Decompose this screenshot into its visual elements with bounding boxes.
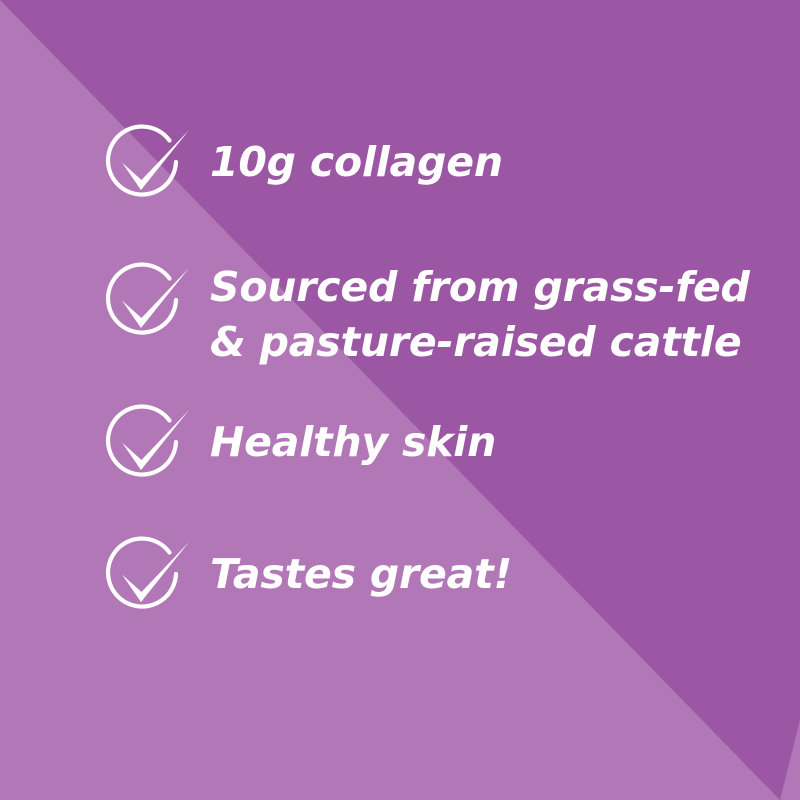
list-item-label: 10g collagen bbox=[210, 118, 503, 190]
list-item-label: Healthy skin bbox=[210, 398, 496, 470]
list-item: Tastes great! bbox=[96, 530, 760, 626]
check-circle-icon bbox=[96, 256, 192, 352]
check-circle-icon bbox=[96, 398, 192, 494]
check-circle-icon bbox=[96, 530, 192, 626]
list-item-label: Sourced from grass-fed & pasture-raised … bbox=[210, 256, 750, 370]
callout-content: 10g collagen Sourced from grass-fed & pa… bbox=[0, 0, 800, 800]
list-item: Healthy skin bbox=[96, 398, 760, 494]
list-item: 10g collagen bbox=[96, 118, 760, 214]
list-item-label: Tastes great! bbox=[210, 530, 512, 602]
product-benefits-callout: 10g collagen Sourced from grass-fed & pa… bbox=[0, 0, 800, 800]
list-item: Sourced from grass-fed & pasture-raised … bbox=[96, 256, 760, 370]
check-circle-icon bbox=[96, 118, 192, 214]
benefit-list: 10g collagen Sourced from grass-fed & pa… bbox=[96, 118, 760, 626]
